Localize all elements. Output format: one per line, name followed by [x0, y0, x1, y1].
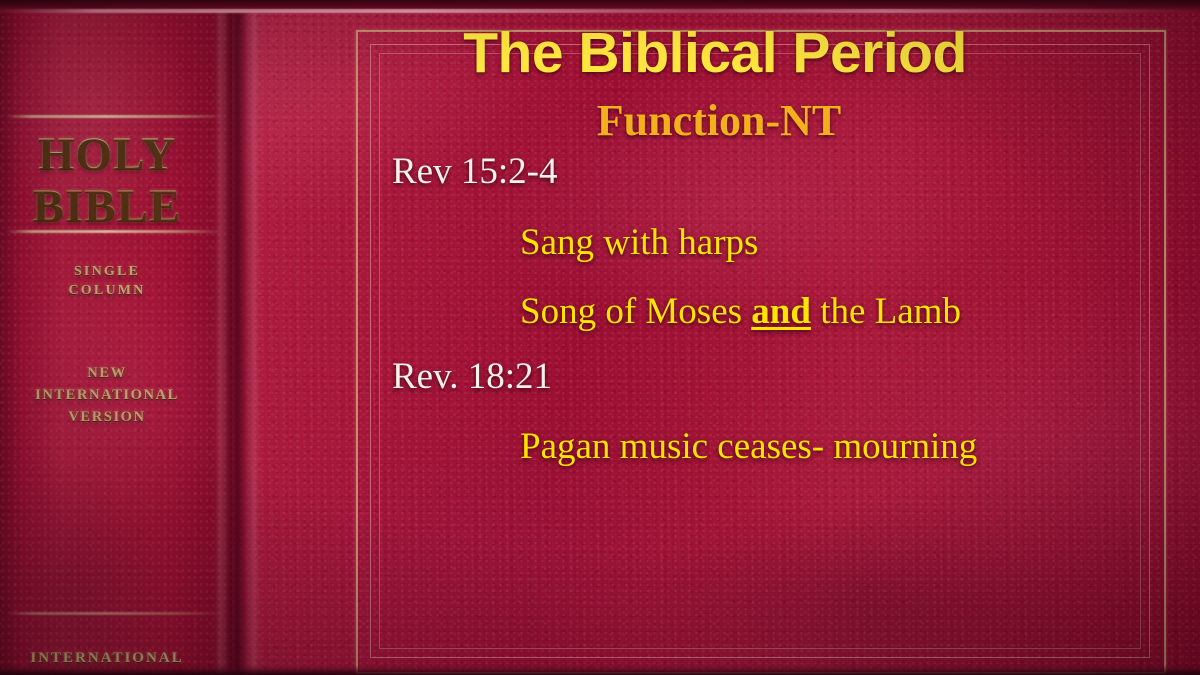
scripture-point-text: Song of Moses: [520, 291, 751, 332]
scripture-point-emphasis: and: [751, 291, 811, 332]
spacer: [392, 269, 1152, 286]
slide-subtitle: Function-NT: [0, 96, 1200, 146]
spine-version-line-1: NEW: [0, 362, 214, 384]
spine-rule-bottom: [6, 612, 224, 615]
scripture-point: Pagan music ceases- mourning: [520, 421, 1152, 473]
scripture-reference: Rev 15:2-4: [392, 146, 1152, 198]
slide-title: The Biblical Period: [0, 22, 1200, 84]
scripture-point: Song of Moses and the Lamb: [520, 286, 1152, 338]
slide-body: Rev 15:2-4 Sang with harps Song of Moses…: [392, 146, 1152, 473]
spine-edition-line-2: COLUMN: [0, 281, 214, 300]
scripture-reference: Rev. 18:21: [392, 351, 1152, 403]
spine-version-line-3: VERSION: [0, 406, 214, 428]
spine-edition: SINGLE COLUMN: [0, 262, 214, 300]
scripture-point-text-tail: the Lamb: [811, 291, 961, 332]
spine-version-line-2: INTERNATIONAL: [0, 384, 214, 406]
spacer: [392, 198, 1152, 217]
slide-canvas: HOLY BIBLE SINGLE COLUMN NEW INTERNATION…: [0, 0, 1200, 675]
scripture-point-text: Sang with harps: [520, 222, 758, 263]
spacer: [392, 403, 1152, 421]
spine-edition-line-1: SINGLE: [0, 262, 214, 281]
spacer: [392, 338, 1152, 351]
spine-title-line-2: BIBLE: [0, 180, 214, 232]
scripture-point-text: Pagan music ceases- mourning: [520, 426, 977, 467]
cover-bottom-edge: [0, 665, 1200, 675]
spine-version: NEW INTERNATIONAL VERSION: [0, 362, 214, 428]
cover-top-edge-highlight: [0, 9, 1200, 13]
scripture-point: Sang with harps: [520, 217, 1152, 269]
